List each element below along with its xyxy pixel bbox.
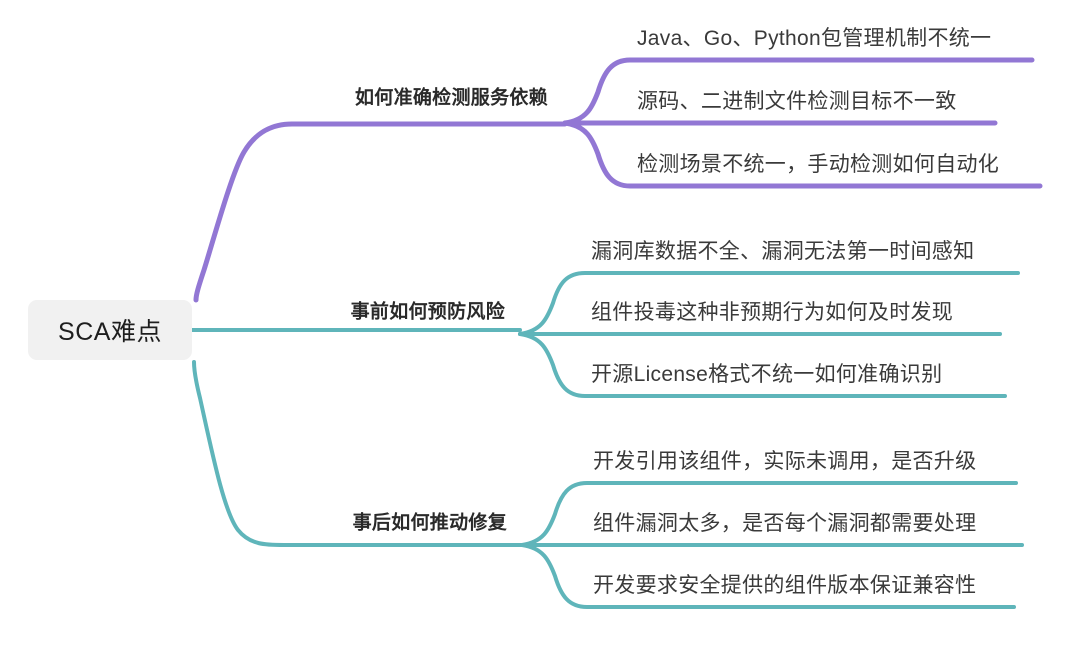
branch-trunk-3	[194, 362, 284, 545]
leaf-label-1-1[interactable]: Java、Go、Python包管理机制不统一	[637, 22, 991, 52]
leaf-label-2-2[interactable]: 组件投毒这种非预期行为如何及时发现	[591, 296, 953, 326]
root-node-label: SCA难点	[58, 312, 162, 348]
leaf-label-3-2[interactable]: 组件漏洞太多，是否每个漏洞都需要处理	[593, 507, 976, 537]
branch-label-2[interactable]: 事前如何预防风险	[351, 297, 505, 324]
leaf-label-1-3[interactable]: 检测场景不统一，手动检测如何自动化	[637, 148, 999, 178]
mindmap-canvas: SCA难点 如何准确检测服务依赖 事前如何预防风险 事后如何推动修复 Java、…	[0, 0, 1080, 660]
branch-label-3[interactable]: 事后如何推动修复	[353, 508, 507, 535]
branch-trunk-visible-1	[196, 124, 292, 300]
leaf-label-1-2[interactable]: 源码、二进制文件检测目标不一致	[637, 85, 957, 115]
root-node[interactable]: SCA难点	[28, 300, 192, 360]
leaf-label-2-3[interactable]: 开源License格式不统一如何准确识别	[591, 358, 942, 388]
leaf-label-3-1[interactable]: 开发引用该组件，实际未调用，是否升级	[593, 445, 976, 475]
branch-label-1[interactable]: 如何准确检测服务依赖	[355, 83, 548, 110]
leaf-label-3-3[interactable]: 开发要求安全提供的组件版本保证兼容性	[593, 569, 976, 599]
leaf-label-2-1[interactable]: 漏洞库数据不全、漏洞无法第一时间感知	[591, 235, 974, 265]
